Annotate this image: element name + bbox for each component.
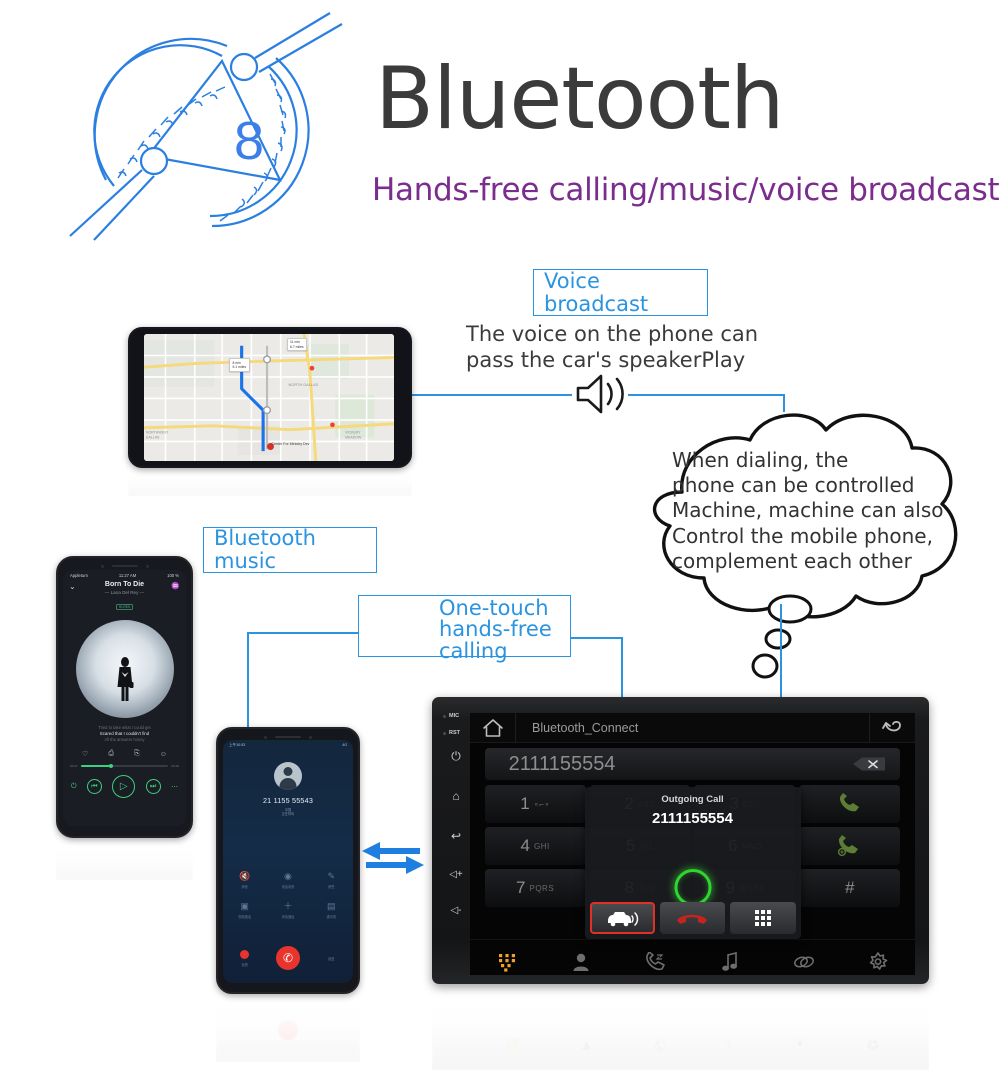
map-route-chip-left[interactable]: 8 min 5.1 miles [229,358,250,372]
car-audio-icon [605,908,639,928]
cloud-line-2: phone can be controlled [672,473,972,498]
dialpad-icon[interactable] [487,947,527,976]
call-option-record[interactable]: ◉电话录音 [282,872,295,889]
home-glyph [482,718,504,738]
dialpad-glyph [497,952,517,972]
logo-badge: 8 [62,8,362,258]
music-progress[interactable]: 00:47 03:19 [63,764,186,768]
head-unit-side-buttons: MIC RST ⏻ ⌂ ↩ ◁+ ◁- [441,713,471,975]
callout-voice-label: Voice broadcast [544,270,697,315]
earpiece-icon [275,736,301,739]
music-icon[interactable] [710,947,750,976]
music-controls: ⏻ ⏮ ▷ ⏭ ⋯ [63,775,186,798]
cloud-line-4: Control the mobile phone, [672,524,972,549]
music-elapsed: 00:47 [70,764,78,768]
record-icon: ◉ [284,872,292,881]
head-unit-screen: Bluetooth_Connect 2111155554 [470,713,915,975]
map-chip-top-dist: 6.7 miles [290,345,304,349]
callout-one-touch-calling: One-touch hands-free calling [358,595,571,657]
back-icon[interactable]: ↩ [451,830,461,842]
call-number: 21 1155 55543 [223,796,353,805]
cloud-line-3: Machine, machine can also [672,498,972,523]
settings-icon[interactable] [858,947,898,976]
call-speaker-label: 免提 [241,962,247,967]
svg-text:NORTHWEST: NORTHWEST [146,431,169,435]
hangup-icon[interactable]: ✆ [276,946,300,970]
key-7[interactable]: 7PQRS [485,869,586,907]
map-destination-label: Center For Ministry Dev [272,442,310,446]
call-keypad-button[interactable]: 键盘 [328,956,334,961]
key-4[interactable]: 4GHI [485,827,586,865]
hangup-icon [674,909,710,927]
phone-map-screen[interactable]: NORTH DALLAS NORTHWEST DALLAS VICKERY ME… [144,334,394,461]
callout-onetouch-line2: hands-free [439,619,570,640]
outgoing-call-title: Outgoing Call [590,794,796,805]
bidirectional-arrow-icon [358,834,428,882]
call-history-glyph [644,952,666,972]
add-call-icon: ＋ [283,902,292,911]
album-figure-icon [115,656,134,702]
outgoing-call-dialog: Outgoing Call 2111155554 [585,787,801,939]
page-title: Bluetooth [375,56,784,142]
outgoing-call-buttons [590,902,796,934]
phone-call-reflection [216,996,360,1062]
camera-icon [101,565,104,568]
previous-icon[interactable]: ⏮ [87,779,102,794]
music-carrier: Appleturn [70,573,88,578]
home-icon[interactable] [470,713,516,742]
settings-glyph [868,952,888,972]
earpiece-icon [112,565,138,568]
call-keypad-label: 键盘 [328,956,334,961]
music-glyph [722,952,738,972]
link-icon[interactable] [784,947,824,976]
cloud-line-1: When dialing, the [672,448,972,473]
phone-music-notch [58,562,191,570]
head-unit-rst-label: RST [441,730,471,736]
video-icon: ▣ [240,902,249,911]
music-battery: 100 % [167,573,179,578]
keypad-icon [753,908,773,928]
call-option-add[interactable]: ＋添加通话 [282,902,295,919]
voicemail-icon: ∘⌐∘ [534,800,550,809]
call-options-grid: 🔇静音 ◉电话录音 ✎便签 ▣视频通话 ＋添加通话 ▤通讯录 [223,872,353,919]
hangup-button[interactable] [660,902,725,934]
car-audio-button[interactable] [590,902,655,934]
contacts-icon[interactable] [561,947,601,976]
cloud-line-5: complement each other [672,549,972,574]
call-progress-ring [674,869,711,906]
call-option-contacts[interactable]: ▤通讯录 [327,902,337,919]
music-action-row: ♡ ⎙ ⎘ ☺ [63,750,186,758]
music-status-bar: Appleturn 11:27 AM 100 % [63,570,186,578]
head-unit-topbar: Bluetooth_Connect [470,713,915,743]
collapse-chevron-icon[interactable]: ⌄ [69,583,76,591]
keypad-button[interactable] [730,902,795,934]
phone-calling-device: 上午10:53 4G 21 1155 55543 中国 正在呼叫 🔇静音 ◉电话… [216,727,360,994]
head-unit-number-value: 2111155554 [509,753,616,776]
call-option-mute[interactable]: 🔇静音 [239,872,250,889]
car-head-unit: MIC RST ⏻ ⌂ ↩ ◁+ ◁- Bluetooth_Connect [432,697,929,984]
heart-icon[interactable]: ♡ [82,750,88,758]
more-icon[interactable]: ⋯ [171,783,178,791]
phone-map-device: NORTH DALLAS NORTHWEST DALLAS VICKERY ME… [128,327,412,468]
call-history-icon[interactable] [635,947,675,976]
call-option-label: 静音 [241,884,247,889]
power-icon[interactable]: ⏻ [71,783,77,791]
svg-text:MEADOW: MEADOW [345,435,362,439]
music-artist: — Lana Del Rey — [63,590,186,595]
callout-voice-broadcast: Voice broadcast [533,269,708,316]
call-button-answer[interactable] [799,785,900,823]
contacts-icon: ▤ [327,902,336,911]
key-1[interactable]: 1∘⌐∘ [485,785,586,823]
music-album-art [76,620,174,718]
speaker-dot-icon [240,950,249,959]
connector-line-onetouch-left [247,632,359,634]
note-icon: ✎ [328,872,336,881]
edit-icon[interactable]: ⎘ [134,750,140,758]
call-sub-line2: 正在呼叫 [223,812,353,817]
callout-onetouch-line3: calling [439,641,570,662]
back-glyph [882,718,904,738]
next-icon[interactable]: ⏭ [146,779,161,794]
link-glyph [793,954,815,970]
head-unit-dialer: 2111155554 1∘⌐∘ 2ABC 3DEF 4GH [470,743,915,939]
music-time: 11:27 AM [119,573,136,578]
phone-music-device: Appleturn 11:27 AM 100 % ⌄ ♒ Born To Die… [56,556,193,838]
phone-call-screen[interactable]: 上午10:53 4G 21 1155 55543 中国 正在呼叫 🔇静音 ◉电话… [223,740,353,983]
call-subtitle: 中国 正在呼叫 [223,808,353,818]
callout-music-label: Bluetooth music [214,527,366,572]
volume-down-icon[interactable]: ◁- [450,906,461,916]
outgoing-call-number: 2111155554 [590,810,796,827]
call-status-bar: 上午10:53 4G [223,740,353,748]
share-icon[interactable]: ⎙ [108,750,114,758]
map-route-chip-top[interactable]: 11 min 6.7 miles [287,338,308,352]
call-option-label: 电话录音 [282,884,295,889]
call-option-label: 便签 [328,884,334,889]
connector-line-cloud-to-headunit [780,604,782,700]
logo-graphic [62,8,362,258]
call-option-label: 视频通话 [238,914,251,919]
mute-icon: 🔇 [239,872,250,881]
music-song-title: Born To Die [63,581,186,588]
call-option-label: 添加通话 [282,914,295,919]
home-icon[interactable]: ⌂ [452,790,459,802]
sensor-icon [146,565,149,568]
equalizer-icon[interactable]: ♒ [171,583,180,590]
callout-onetouch-line1: One-touch [439,598,570,619]
head-unit-nav-bar [470,939,915,975]
map-graphic: NORTH DALLAS NORTHWEST DALLAS VICKERY ME… [144,334,394,461]
page-subtitle: Hands-free calling/music/voice broadcast [372,172,999,208]
music-header: ⌄ ♒ Born To Die — Lana Del Rey — HI-RES [63,581,186,613]
phone-music-reflection [56,840,193,880]
comment-icon[interactable]: ☺ [160,751,167,758]
infographic-page: 8 Bluetooth Hands-free calling/music/voi… [0,0,1001,1072]
call-option-note[interactable]: ✎便签 [328,872,336,889]
call-icon [836,793,864,815]
key-hash[interactable]: # [799,869,900,907]
head-unit-number-display[interactable]: 2111155554 [485,748,901,780]
callout-bluetooth-music: Bluetooth music [203,527,377,573]
call-option-label: 通讯录 [327,914,337,919]
music-quality-badge: HI-RES [116,604,134,610]
volume-up-icon[interactable]: ◁+ [449,870,463,880]
contacts-glyph [572,952,590,972]
call-status-icons: 4G [342,743,347,748]
backspace-icon[interactable] [852,757,886,772]
map-chip-left-dist: 5.1 miles [233,365,247,369]
call-button-transfer[interactable] [799,827,900,865]
phone-music-screen[interactable]: Appleturn 11:27 AM 100 % ⌄ ♒ Born To Die… [63,570,186,826]
voice-description-text: The voice on the phone can pass the car'… [466,322,806,373]
call-bottom-row: 免提 ✆ 键盘 [223,946,353,970]
svg-text:DALLAS: DALLAS [146,435,160,439]
camera-icon [264,736,267,739]
call-speaker-button[interactable]: 免提 [240,950,249,967]
head-unit-reflection: ▦▼✆♪⦿✿ [432,986,929,1070]
connector-line-onetouch-right [570,637,622,639]
play-icon[interactable]: ▷ [112,775,135,798]
lyric-next: All the answers honey [63,737,186,743]
cloud-text: When dialing, the phone can be controlle… [672,448,972,574]
call-option-video[interactable]: ▣视频通话 [238,902,251,919]
svg-text:NORTH DALLAS: NORTH DALLAS [289,382,319,387]
music-lyrics: Tried to take what I could get Scared th… [63,725,186,743]
back-arrow-icon[interactable] [869,713,915,742]
call-status-time: 上午10:53 [229,743,245,748]
call-transfer-icon [835,835,865,857]
logo-number: 8 [234,110,264,172]
svg-text:VICKERY: VICKERY [345,431,361,435]
music-progress-bar[interactable] [81,765,169,767]
music-total: 03:19 [171,764,179,768]
head-unit-mic-label: MIC [441,713,471,719]
phone-map-reflection [128,470,412,496]
head-unit-title: Bluetooth_Connect [516,721,869,735]
sensor-icon [309,736,312,739]
power-icon[interactable]: ⏻ [451,750,461,762]
avatar [274,762,302,790]
